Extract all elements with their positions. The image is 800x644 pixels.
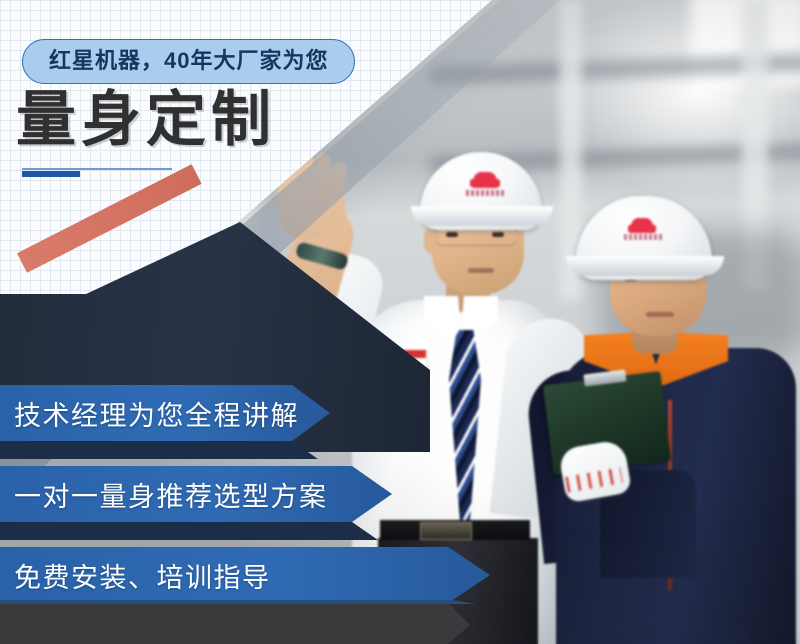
brand-badge: 红星机器，40年大厂家为您 <box>22 39 355 84</box>
title-underline-thick <box>22 171 80 177</box>
feature-bar-2-label: 一对一量身推荐选型方案 <box>0 475 328 514</box>
title-underline-thin <box>22 168 172 170</box>
hard-hat-logo-icon <box>470 172 500 188</box>
left-worker-hat-brim <box>411 206 553 226</box>
hard-hat-logo-text <box>466 190 506 196</box>
left-worker-eye <box>492 232 504 237</box>
left-worker-eye <box>446 232 458 237</box>
feature-bar-1: 技术经理为您全程讲解 <box>0 385 330 441</box>
feature-bar-3-label: 免费安装、培训指导 <box>0 556 271 595</box>
left-worker-belt-buckle <box>420 522 472 540</box>
feature-bar-2: 一对一量身推荐选型方案 <box>0 466 392 522</box>
feature-bar-1-label: 技术经理为您全程讲解 <box>0 394 299 433</box>
promo-banner: 红星机器，40年大厂家为您 量身定制 技术经理为您全程讲解 一对一量身推荐选型方… <box>0 0 800 644</box>
page-title: 量身定制 <box>16 90 276 150</box>
feature-bar-3-shadow <box>0 600 476 604</box>
feature-bar-shadow <box>0 441 318 459</box>
hard-hat-logo-icon <box>628 218 656 233</box>
hard-hat-logo-text <box>624 234 662 240</box>
right-worker-mouth <box>646 312 674 317</box>
left-worker-mouth <box>468 268 494 273</box>
feature-bar-shadow <box>0 522 378 540</box>
right-worker-hat-brim <box>566 256 724 276</box>
footer-grey-strip <box>0 603 470 644</box>
feature-bar-3: 免费安装、培训指导 <box>0 547 490 603</box>
